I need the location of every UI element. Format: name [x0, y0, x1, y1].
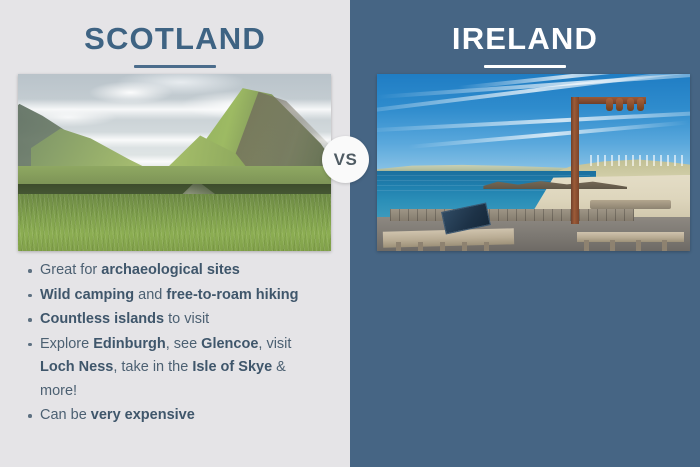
stone-slab	[590, 200, 671, 209]
page-title-ireland: IRELAND	[350, 0, 700, 58]
body-text: Can be	[40, 407, 91, 423]
emphasis-text: archaeological sites	[101, 262, 240, 278]
photo-ireland	[377, 74, 690, 251]
emphasis-text: Isle of Skye	[192, 359, 272, 375]
emphasis-text: Glencoe	[201, 336, 258, 352]
body-text: , take in the	[113, 359, 192, 375]
ireland-coast-image	[377, 74, 690, 251]
photo-scotland	[18, 74, 331, 251]
feature-list-scotland: Great for archaeological sitesWild campi…	[26, 259, 326, 429]
comparison-infographic: SCOTLAND Great for archaeological sites	[0, 0, 700, 467]
list-item: Explore Edinburgh, see Glencoe, visit Lo…	[26, 333, 326, 404]
emphasis-text: very expensive	[91, 407, 195, 423]
panel-ireland: IRELAND	[350, 0, 700, 467]
body-text: Explore	[40, 336, 93, 352]
stone-wall	[390, 209, 634, 221]
list-item: Wild camping and free-to-roam hiking	[26, 284, 326, 308]
scotland-landscape-image	[18, 74, 331, 251]
emphasis-text: free-to-roam hiking	[166, 287, 298, 303]
list-item: Great for archaeological sites	[26, 259, 326, 283]
post-nub	[627, 98, 634, 111]
post-nub	[616, 98, 623, 111]
body-text: , visit	[258, 336, 291, 352]
post-nub	[637, 98, 644, 111]
title-underline-scotland	[134, 65, 216, 68]
emphasis-text: Edinburgh	[93, 336, 166, 352]
body-text: , see	[166, 336, 201, 352]
body-text: Great for	[40, 262, 101, 278]
body-text: to visit	[164, 311, 209, 327]
rusted-metal-post	[571, 97, 579, 224]
emphasis-text: Countless islands	[40, 311, 164, 327]
post-nub	[606, 98, 613, 111]
vs-badge: VS	[322, 136, 369, 183]
foreground-grass	[18, 194, 331, 251]
title-underline-ireland	[484, 65, 566, 68]
list-item: Can be very expensive	[26, 404, 326, 428]
distant-houses	[590, 155, 684, 166]
panel-scotland: SCOTLAND Great for archaeological sites	[0, 0, 350, 467]
body-text: and	[134, 287, 166, 303]
emphasis-text: Loch Ness	[40, 359, 113, 375]
vs-badge-label: VS	[334, 150, 358, 170]
emphasis-text: Wild camping	[40, 287, 134, 303]
list-item: Countless islands to visit	[26, 308, 326, 332]
page-title-scotland: SCOTLAND	[0, 0, 350, 58]
bench-legs	[584, 240, 678, 251]
bench-legs	[396, 242, 490, 251]
metal-post-arm	[571, 97, 646, 104]
